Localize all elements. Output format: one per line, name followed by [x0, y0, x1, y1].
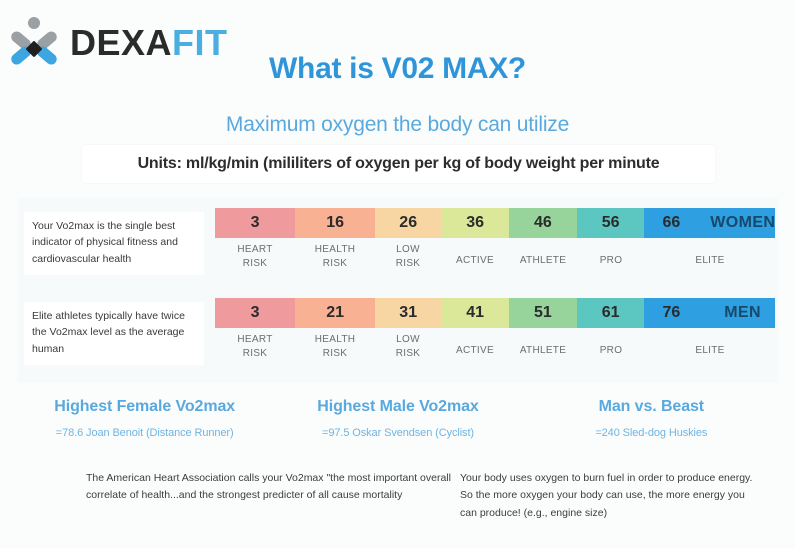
scale-segment: 61 [577, 298, 645, 328]
category-label: LOW RISK [375, 243, 441, 270]
record-title: Highest Male Vo2max [271, 398, 524, 416]
scale-segment: 21 [295, 298, 375, 328]
category-label: ATHLETE [509, 344, 577, 358]
category-label: HEART RISK [215, 333, 295, 360]
scale-row-end-label: WOMEN [710, 214, 775, 232]
footnote-oxygen-energy: Your body uses oxygen to burn fuel in or… [460, 470, 760, 522]
category-label: ELITE [645, 344, 775, 358]
category-label: ACTIVE [441, 344, 509, 358]
scale-bar-wrap-women: 3 16 26 36 46 56 66 WOMEN HEART RISK HEA… [215, 208, 775, 283]
scale-bar-men: 3 21 31 41 51 61 76 MEN [215, 298, 775, 328]
scale-segment: 36 [441, 208, 509, 238]
vo2max-scale-panel: Your Vo2max is the single best indicator… [18, 198, 778, 383]
scale-bar-wrap-men: 3 21 31 41 51 61 76 MEN HEART RISK HEALT… [215, 298, 775, 373]
scale-segment: 51 [509, 298, 577, 328]
category-label: ELITE [645, 254, 775, 268]
scale-segment-value: 76 [662, 304, 680, 322]
category-label: ATHLETE [509, 254, 577, 268]
page-title: What is V02 MAX? [0, 52, 795, 86]
record-highest-male: Highest Male Vo2max =97.5 Oskar Svendsen… [271, 398, 524, 439]
infographic-page: DEXAFIT What is V02 MAX? Maximum oxygen … [0, 0, 795, 548]
category-label: PRO [577, 254, 645, 268]
scale-segment: 16 [295, 208, 375, 238]
scale-segment: 3 [215, 208, 295, 238]
record-value: =97.5 Oskar Svendsen (Cyclist) [271, 427, 524, 439]
units-text: Units: ml/kg/min (mililiters of oxygen p… [138, 155, 660, 173]
units-banner: Units: ml/kg/min (mililiters of oxygen p… [82, 145, 715, 183]
side-note-men: Elite athletes typically have twice the … [24, 302, 204, 365]
scale-segment: 56 [577, 208, 645, 238]
records-row: Highest Female Vo2max =78.6 Joan Benoit … [18, 398, 778, 439]
scale-row-end-label: MEN [724, 304, 761, 322]
category-label: PRO [577, 344, 645, 358]
record-highest-female: Highest Female Vo2max =78.6 Joan Benoit … [18, 398, 271, 439]
record-man-vs-beast: Man vs. Beast =240 Sled-dog Huskies [525, 398, 778, 439]
record-value: =240 Sled-dog Huskies [525, 427, 778, 439]
record-title: Highest Female Vo2max [18, 398, 271, 416]
record-value: =78.6 Joan Benoit (Distance Runner) [18, 427, 271, 439]
scale-segment-elite: 66 WOMEN [644, 208, 774, 238]
page-subtitle: Maximum oxygen the body can utilize [0, 113, 795, 137]
category-label: HEALTH RISK [295, 243, 375, 270]
scale-segment: 41 [441, 298, 509, 328]
category-label: ACTIVE [441, 254, 509, 268]
scale-bar-women: 3 16 26 36 46 56 66 WOMEN [215, 208, 775, 238]
category-label: HEALTH RISK [295, 333, 375, 360]
category-label-row-women: HEART RISK HEALTH RISK LOW RISK ACTIVE A… [215, 243, 775, 283]
footnote-aha: The American Heart Association calls you… [86, 470, 456, 522]
category-label: HEART RISK [215, 243, 295, 270]
footnotes-row: The American Heart Association calls you… [18, 470, 778, 522]
scale-segment-value: 66 [662, 214, 680, 232]
record-title: Man vs. Beast [525, 398, 778, 416]
scale-segment: 31 [375, 298, 441, 328]
scale-segment: 26 [375, 208, 441, 238]
scale-segment-elite: 76 MEN [644, 298, 774, 328]
side-note-women: Your Vo2max is the single best indicator… [24, 212, 204, 275]
scale-segment: 46 [509, 208, 577, 238]
category-label-row-men: HEART RISK HEALTH RISK LOW RISK ACTIVE A… [215, 333, 775, 373]
category-label: LOW RISK [375, 333, 441, 360]
scale-segment: 3 [215, 298, 295, 328]
